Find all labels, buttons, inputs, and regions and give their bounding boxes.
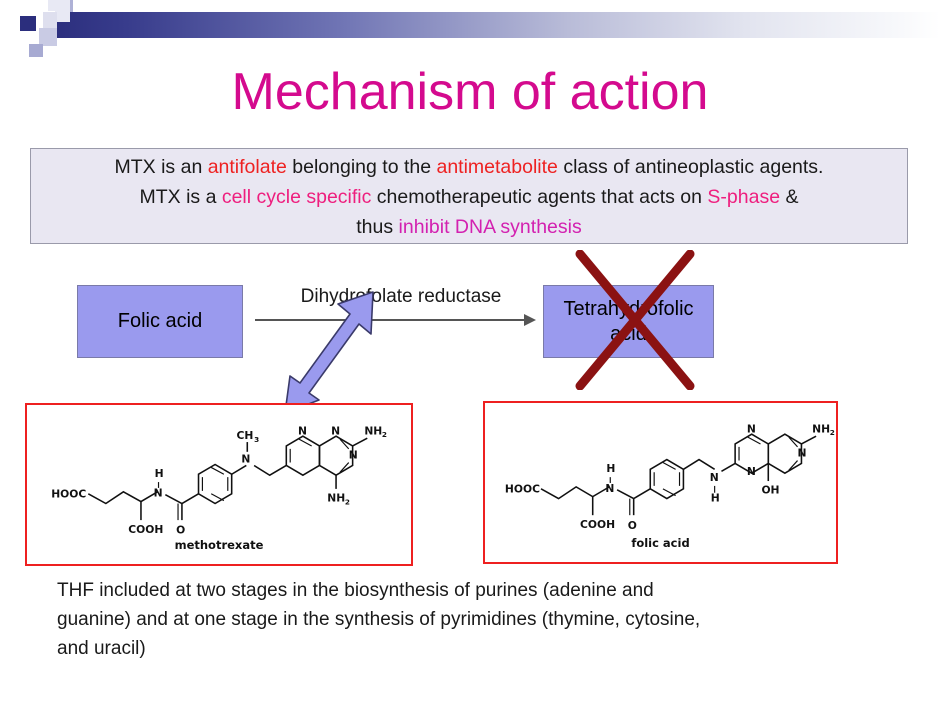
folic-acid-box: Folic acid bbox=[77, 285, 243, 358]
bottom-note: THF included at two stages in the biosyn… bbox=[57, 576, 872, 663]
intro-l2-sphase: S-phase bbox=[707, 186, 780, 208]
mtx-label-n1: N bbox=[298, 424, 307, 437]
intro-l2-seg3: chemotherapeutic agents that acts on bbox=[371, 186, 707, 208]
mtx-label-n2: N bbox=[331, 424, 340, 437]
fa-label-hooc: HOOC bbox=[505, 483, 540, 496]
fa-label-n1: N bbox=[747, 422, 756, 435]
mtx-label-nh2-top-sub: 2 bbox=[382, 430, 387, 439]
inhibition-block-arrow-icon bbox=[280, 290, 390, 415]
mtx-label-ch3: CH bbox=[237, 429, 254, 442]
mtx-label-hooc: HOOC bbox=[51, 488, 86, 501]
intro-l2-cellcycle: cell cycle specific bbox=[222, 186, 372, 208]
header-gradient-bar bbox=[56, 12, 940, 38]
fa-label-n2: N bbox=[747, 465, 756, 478]
fa-label-oh: OH bbox=[761, 484, 779, 497]
slide-canvas: Mechanism of action MTX is an antifolate… bbox=[0, 0, 940, 705]
mtx-label-ch3-sub: 3 bbox=[254, 435, 259, 444]
intro-l3-inhibit: inhibit DNA synthesis bbox=[399, 216, 582, 238]
bottom-note-line-2: guanine) and at one stage in the synthes… bbox=[57, 605, 872, 634]
intro-line-2: MTX is a cell cycle specific chemotherap… bbox=[31, 182, 907, 212]
bottom-note-line-3: and uracil) bbox=[57, 634, 872, 663]
mtx-label-n-methyl: N bbox=[241, 453, 250, 466]
header-square-e bbox=[29, 44, 43, 57]
intro-l1-antifolate: antifolate bbox=[208, 156, 287, 178]
mtx-label-h-amide: H bbox=[155, 467, 164, 480]
bottom-note-line-1: THF included at two stages in the biosyn… bbox=[57, 576, 872, 605]
intro-l2-seg5: & bbox=[780, 186, 798, 208]
fa-label-cooh: COOH bbox=[580, 518, 615, 531]
intro-l1-seg3: belonging to the bbox=[287, 156, 437, 178]
fa-label-h-linker: H bbox=[711, 492, 720, 505]
red-x-cross-icon bbox=[570, 250, 700, 390]
page-title: Mechanism of action bbox=[0, 62, 940, 122]
fa-label-nh2-sub: 2 bbox=[830, 428, 835, 437]
fa-label-n-linker: N bbox=[710, 471, 719, 484]
intro-l2-seg1: MTX is a bbox=[139, 186, 221, 208]
methotrexate-caption: methotrexate bbox=[27, 538, 411, 552]
fa-label-n3: N bbox=[798, 447, 807, 460]
fa-label-nh2: NH bbox=[812, 422, 830, 435]
fa-label-n-amide: N bbox=[605, 482, 614, 495]
intro-line-1: MTX is an antifolate belonging to the an… bbox=[31, 152, 907, 182]
mtx-label-n3: N bbox=[349, 449, 358, 462]
intro-l1-antimetabolite: antimetabolite bbox=[436, 156, 557, 178]
fa-label-h-amide: H bbox=[606, 462, 615, 475]
intro-l3-seg1: thus bbox=[356, 216, 398, 238]
fa-label-o: O bbox=[628, 519, 637, 532]
mtx-label-cooh: COOH bbox=[128, 523, 163, 536]
mtx-label-nh2-bottom-sub: 2 bbox=[345, 497, 350, 506]
mtx-label-n-amide: N bbox=[154, 487, 163, 500]
intro-l1-seg5: class of antineoplastic agents. bbox=[558, 156, 824, 178]
header-square-a bbox=[20, 16, 36, 31]
header-square-g bbox=[43, 12, 57, 29]
folic-acid-caption: folic acid bbox=[485, 536, 836, 550]
mtx-label-nh2-top: NH bbox=[364, 424, 382, 437]
folic-acid-structure-panel: HOOC COOH N H O N H N N bbox=[483, 401, 838, 564]
intro-l1-seg1: MTX is an bbox=[115, 156, 208, 178]
methotrexate-structure-panel: HOOC COOH N H O N CH 3 bbox=[25, 403, 413, 566]
mtx-label-o: O bbox=[176, 524, 185, 537]
reaction-arrow-head-icon bbox=[524, 314, 536, 326]
mtx-label-nh2-bottom: NH bbox=[327, 492, 345, 505]
intro-text-box: MTX is an antifolate belonging to the an… bbox=[30, 148, 908, 244]
intro-line-3: thus inhibit DNA synthesis bbox=[31, 212, 907, 242]
header-decoration bbox=[0, 0, 940, 55]
